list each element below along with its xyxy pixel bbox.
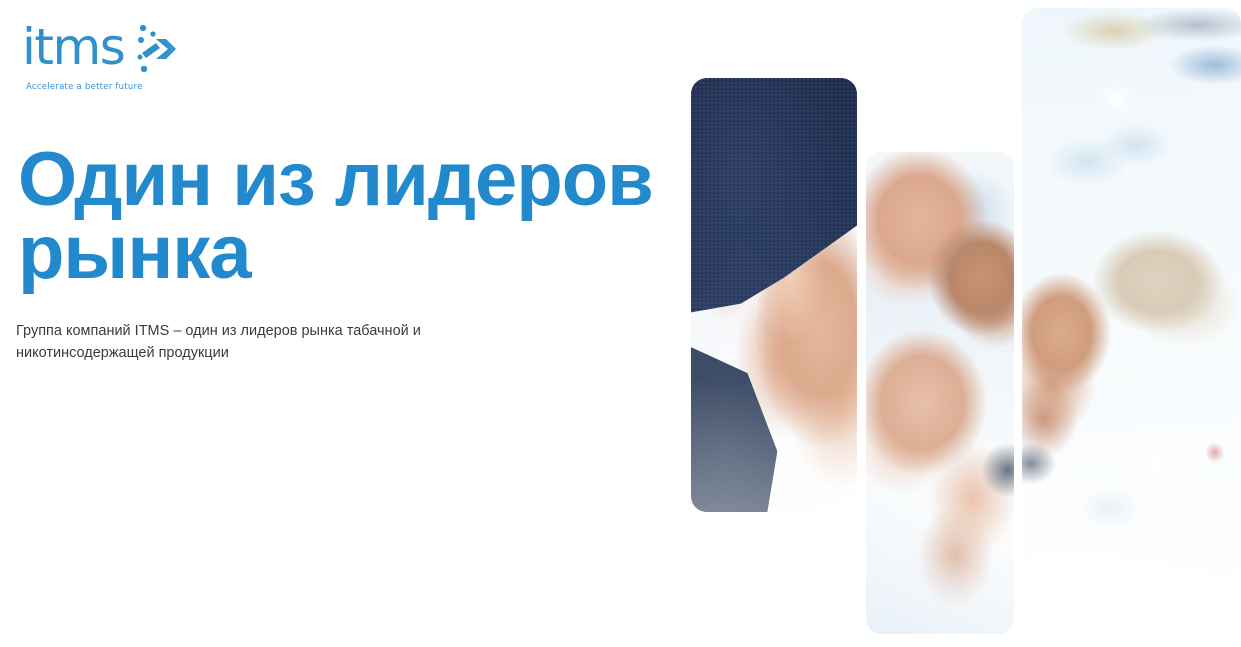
hero-image-right <box>1022 8 1241 578</box>
hero-page: itms Accelerate a better future <box>0 0 1241 647</box>
double-chevron-dots-icon <box>134 22 180 76</box>
image-shading-layer <box>866 152 1014 634</box>
logo-wordmark: itms <box>22 22 124 72</box>
hero-image-center <box>866 152 1014 634</box>
brand-logo[interactable]: itms Accelerate a better future <box>22 22 242 102</box>
logo-row: itms <box>22 22 242 74</box>
hero-image-left <box>691 78 857 512</box>
hero-subtitle: Группа компаний ITMS – один из лидеров р… <box>16 320 516 365</box>
logo-tagline: Accelerate a better future <box>26 82 242 92</box>
image-shading-layer <box>1022 8 1241 578</box>
image-shading-layer <box>691 78 857 512</box>
page-title: Один из лидеров рынка <box>18 144 718 290</box>
